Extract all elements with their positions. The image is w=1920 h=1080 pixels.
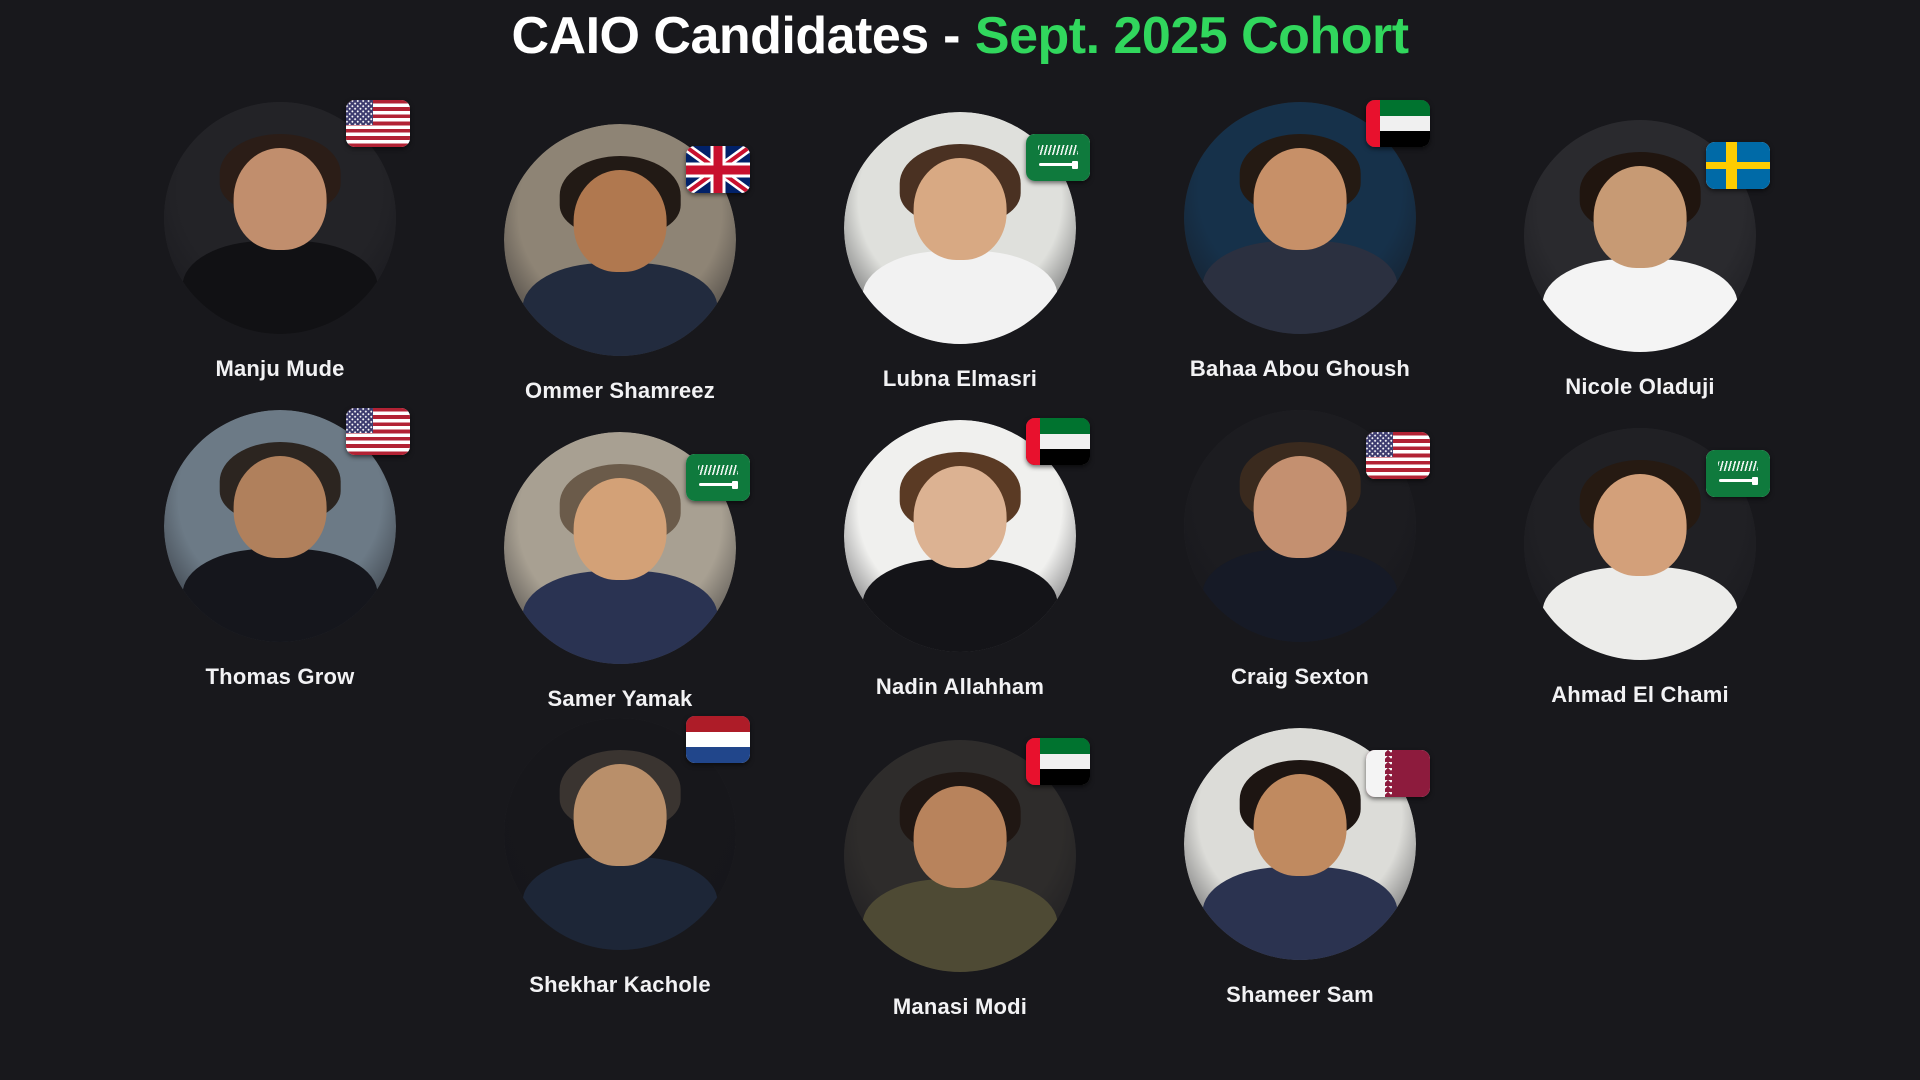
candidate-card[interactable]: Thomas Grow [110,410,450,690]
avatar-wrap [1524,428,1756,660]
candidates-board: CAIO Candidates - Sept. 2025 Cohort Manj… [0,0,1920,1080]
avatar-wrap [1184,728,1416,960]
candidate-card[interactable]: Shekhar Kachole [450,718,790,998]
saudi-arabia-flag [1706,450,1770,497]
candidate-card[interactable]: Manasi Modi [790,740,1130,1020]
candidate-name: Samer Yamak [548,686,693,712]
avatar-wrap [1184,102,1416,334]
avatar-wrap [1524,120,1756,352]
candidate-name: Manju Mude [215,356,344,382]
candidate-card[interactable]: Ahmad El Chami [1470,428,1810,708]
candidate-card[interactable]: Ommer Shamreez [450,124,790,404]
saudi-arabia-flag [1026,134,1090,181]
candidate-name: Shekhar Kachole [529,972,711,998]
united-states-flag [346,408,410,455]
candidate-name: Ommer Shamreez [525,378,715,404]
candidate-card[interactable]: Manju Mude [110,102,450,382]
candidate-name: Nadin Allahham [876,674,1044,700]
candidate-card[interactable]: Shameer Sam [1130,728,1470,1008]
candidate-name: Manasi Modi [893,994,1027,1020]
page-title-main: CAIO Candidates [511,7,928,65]
avatar-wrap [844,740,1076,972]
avatar-wrap [844,112,1076,344]
candidate-name: Craig Sexton [1231,664,1369,690]
candidate-card[interactable]: Bahaa Abou Ghoush [1130,102,1470,382]
page-title-separator: - [929,7,975,65]
united-states-flag [1366,432,1430,479]
united-kingdom-flag [686,146,750,193]
uae-flag [1026,418,1090,465]
saudi-arabia-flag [686,454,750,501]
avatar-wrap [1184,410,1416,642]
page-title: CAIO Candidates - Sept. 2025 Cohort [0,0,1920,66]
candidate-name: Ahmad El Chami [1551,682,1729,708]
candidate-name: Nicole Oladuji [1565,374,1715,400]
candidate-row-2: Thomas Grow Samer Yamak [0,410,1920,712]
candidate-name: Lubna Elmasri [883,366,1037,392]
avatar-wrap [164,410,396,642]
candidate-card[interactable]: Samer Yamak [450,432,790,712]
candidate-name: Bahaa Abou Ghoush [1190,356,1410,382]
candidate-name: Thomas Grow [206,664,355,690]
uae-flag [1366,100,1430,147]
candidate-card[interactable]: Nicole Oladuji [1470,120,1810,400]
avatar-wrap [164,102,396,334]
candidate-grid: Manju Mude Ommer Shamreez [0,102,1920,1020]
avatar-wrap [844,420,1076,652]
candidate-row-3: Shekhar Kachole Manasi Modi [0,718,1920,1020]
candidate-card[interactable]: Nadin Allahham [790,420,1130,700]
uae-flag [1026,738,1090,785]
avatar-wrap [504,718,736,950]
candidate-name: Shameer Sam [1226,982,1374,1008]
avatar-wrap [504,124,736,356]
candidate-row-1: Manju Mude Ommer Shamreez [0,102,1920,404]
qatar-flag [1366,750,1430,797]
page-title-accent: Sept. 2025 Cohort [975,7,1409,65]
candidate-card[interactable]: Lubna Elmasri [790,112,1130,392]
candidate-card[interactable]: Craig Sexton [1130,410,1470,690]
netherlands-flag [686,716,750,763]
avatar-wrap [504,432,736,664]
united-states-flag [346,100,410,147]
sweden-flag [1706,142,1770,189]
